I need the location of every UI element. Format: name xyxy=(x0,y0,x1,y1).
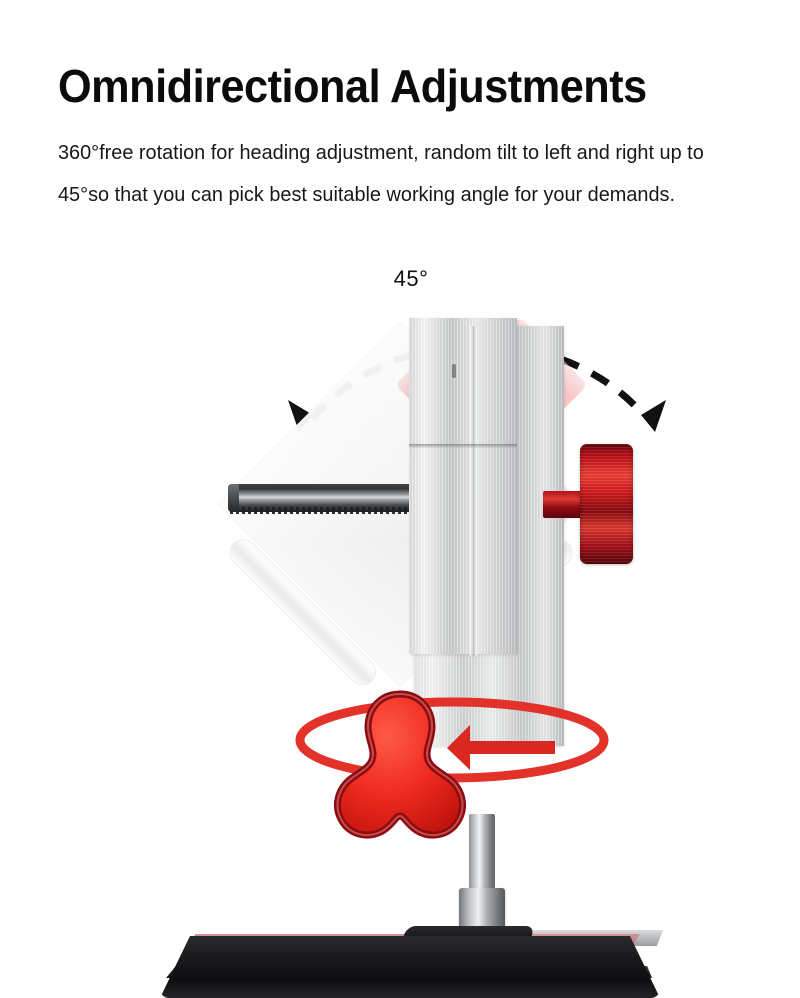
black-base-platform xyxy=(160,936,660,998)
red-trefoil-knob xyxy=(315,686,485,856)
product-diagram: 45° xyxy=(0,236,800,800)
intro-text-block: Omnidirectional Adjustments 360°free rot… xyxy=(58,62,758,216)
page-title: Omnidirectional Adjustments xyxy=(58,62,716,110)
page-description: 360°free rotation for heading adjustment… xyxy=(58,132,749,216)
